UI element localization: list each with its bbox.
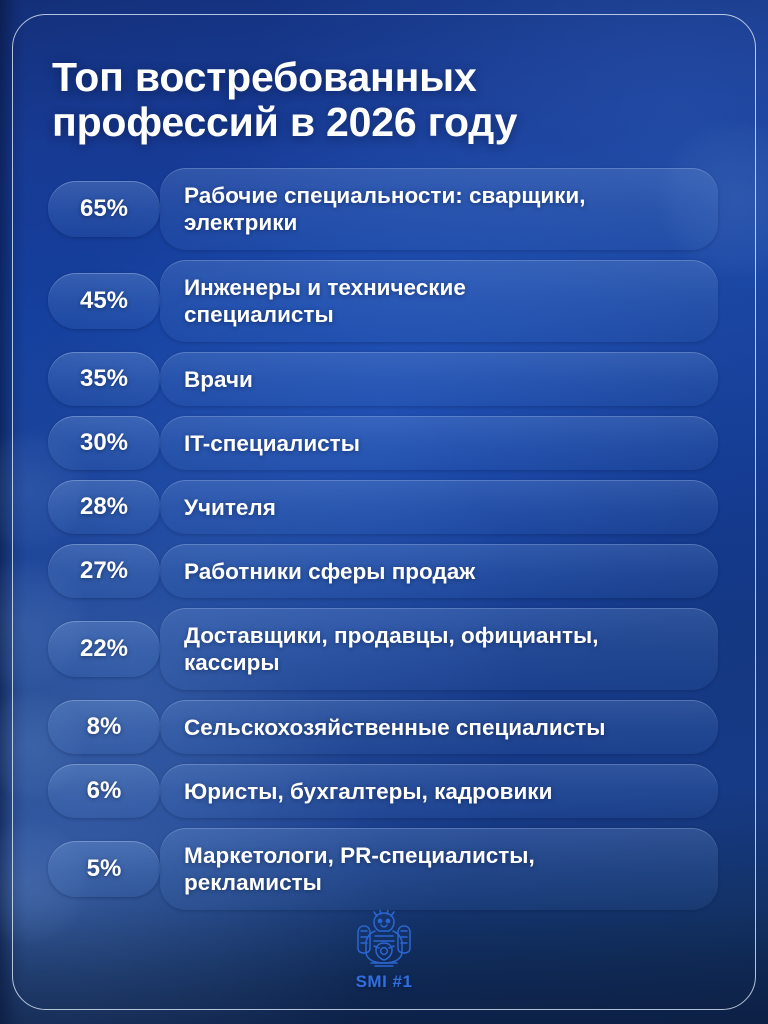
percentage-badge: 22% bbox=[48, 621, 160, 677]
profession-label-pill: Врачи bbox=[160, 352, 718, 406]
brand-wordmark: SMI #1 bbox=[356, 972, 413, 992]
profession-label-pill: Рабочие специальности: сварщики, электри… bbox=[160, 168, 718, 250]
page-title: Топ востребованных профессий в 2026 году bbox=[52, 55, 712, 145]
profession-label-pill: IT-специалисты bbox=[160, 416, 718, 470]
percentage-value: 27% bbox=[80, 557, 128, 585]
profession-label-text: Инженеры и технические специалисты bbox=[184, 274, 466, 328]
percentage-badge: 27% bbox=[48, 544, 160, 598]
profession-label-text: Врачи bbox=[184, 366, 253, 393]
profession-label-pill: Инженеры и технические специалисты bbox=[160, 260, 718, 342]
percentage-value: 45% bbox=[80, 287, 128, 315]
crest-emblem-icon bbox=[353, 910, 415, 968]
profession-row: 5%Маркетологи, PR-специалисты, рекламист… bbox=[0, 828, 768, 910]
percentage-value: 35% bbox=[80, 365, 128, 393]
percentage-badge: 6% bbox=[48, 764, 160, 818]
percentage-value: 22% bbox=[80, 635, 128, 663]
profession-row: 8%Сельскохозяйственные специалисты bbox=[0, 700, 768, 754]
profession-row: 27%Работники сферы продаж bbox=[0, 544, 768, 598]
percentage-badge: 35% bbox=[48, 352, 160, 406]
page-title-line-1: Топ востребованных bbox=[52, 54, 477, 100]
profession-label-pill: Юристы, бухгалтеры, кадровики bbox=[160, 764, 718, 818]
percentage-value: 30% bbox=[80, 429, 128, 457]
profession-label-text: Маркетологи, PR-специалисты, рекламисты bbox=[184, 842, 535, 896]
percentage-badge: 45% bbox=[48, 273, 160, 329]
percentage-value: 28% bbox=[80, 493, 128, 521]
profession-label-text: IT-специалисты bbox=[184, 430, 360, 457]
profession-label-pill: Сельскохозяйственные специалисты bbox=[160, 700, 718, 754]
profession-row: 65%Рабочие специальности: сварщики, элек… bbox=[0, 168, 768, 250]
footer-branding: SMI #1 bbox=[0, 910, 768, 992]
percentage-value: 65% bbox=[80, 195, 128, 223]
profession-label-text: Доставщики, продавцы, официанты, кассиры bbox=[184, 622, 599, 676]
profession-label-pill: Доставщики, продавцы, официанты, кассиры bbox=[160, 608, 718, 690]
profession-label-text: Рабочие специальности: сварщики, электри… bbox=[184, 182, 586, 236]
profession-label-pill: Работники сферы продаж bbox=[160, 544, 718, 598]
profession-label-pill: Маркетологи, PR-специалисты, рекламисты bbox=[160, 828, 718, 910]
profession-row: 45%Инженеры и технические специалисты bbox=[0, 260, 768, 342]
profession-row: 30% IT-специалисты bbox=[0, 416, 768, 470]
page-title-line-2: профессий в 2026 году bbox=[52, 100, 712, 145]
percentage-value: 6% bbox=[87, 777, 122, 805]
percentage-badge: 28% bbox=[48, 480, 160, 534]
profession-row: 35%Врачи bbox=[0, 352, 768, 406]
profession-row: 28%Учителя bbox=[0, 480, 768, 534]
profession-label-text: Учителя bbox=[184, 494, 276, 521]
profession-label-text: Сельскохозяйственные специалисты bbox=[184, 714, 606, 741]
profession-row: 6%Юристы, бухгалтеры, кадровики bbox=[0, 764, 768, 818]
profession-label-text: Юристы, бухгалтеры, кадровики bbox=[184, 778, 552, 805]
infographic-poster: Топ востребованных профессий в 2026 году… bbox=[0, 0, 768, 1024]
percentage-badge: 30% bbox=[48, 416, 160, 470]
percentage-value: 8% bbox=[87, 713, 122, 741]
percentage-value: 5% bbox=[87, 855, 122, 883]
profession-label-text: Работники сферы продаж bbox=[184, 558, 475, 585]
percentage-badge: 65% bbox=[48, 181, 160, 237]
profession-row: 22%Доставщики, продавцы, официанты, касс… bbox=[0, 608, 768, 690]
percentage-badge: 5% bbox=[48, 841, 160, 897]
percentage-badge: 8% bbox=[48, 700, 160, 754]
profession-label-pill: Учителя bbox=[160, 480, 718, 534]
profession-list: 65%Рабочие специальности: сварщики, элек… bbox=[0, 168, 768, 920]
